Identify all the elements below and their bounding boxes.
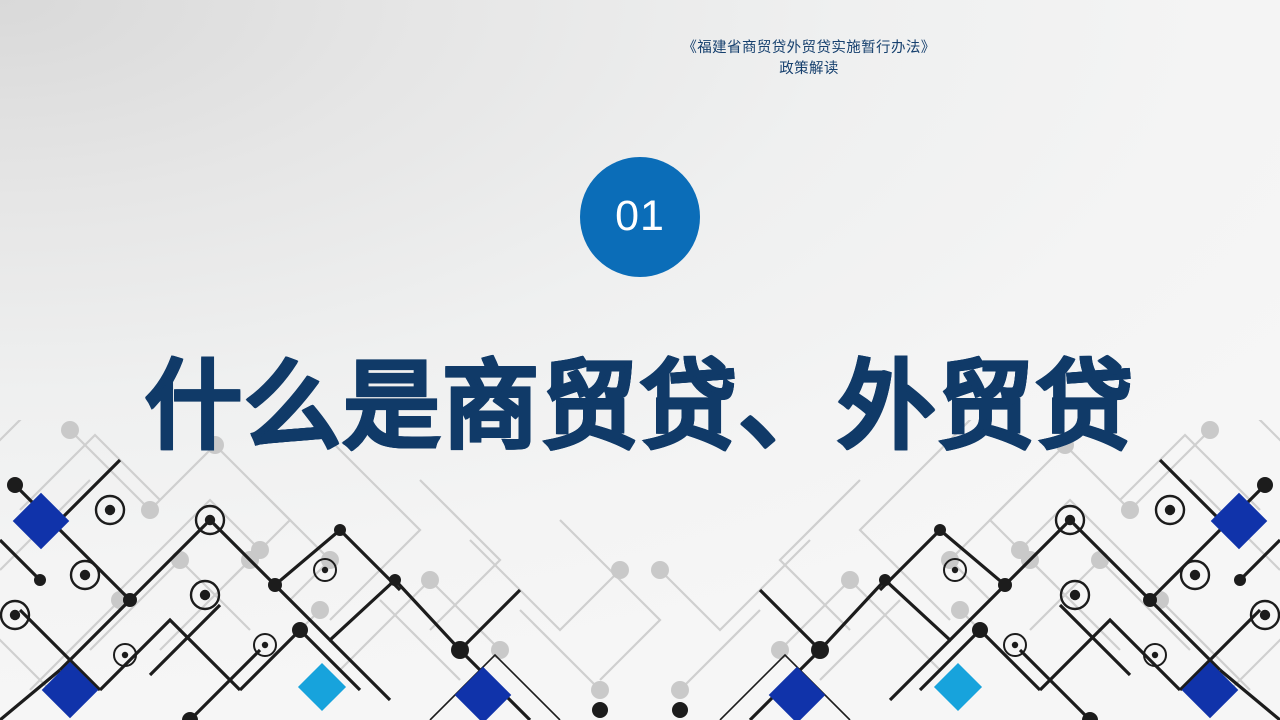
slide-header: 《福建省商贸贷外贸贷实施暂行办法》 政策解读 — [0, 38, 1280, 79]
section-number-badge: 01 — [580, 157, 700, 277]
header-title-line-2: 政策解读 — [682, 59, 935, 80]
presentation-slide: 《福建省商贸贷外贸贷实施暂行办法》 政策解读 01 什么是商贸贷、外贸贷 — [0, 0, 1280, 720]
section-number: 01 — [615, 195, 665, 238]
header-title-line-1: 《福建省商贸贷外贸贷实施暂行办法》 — [682, 38, 935, 59]
circuit-network-pattern — [0, 420, 1280, 720]
section-title: 什么是商贸贷、外贸贷 — [0, 353, 1280, 462]
